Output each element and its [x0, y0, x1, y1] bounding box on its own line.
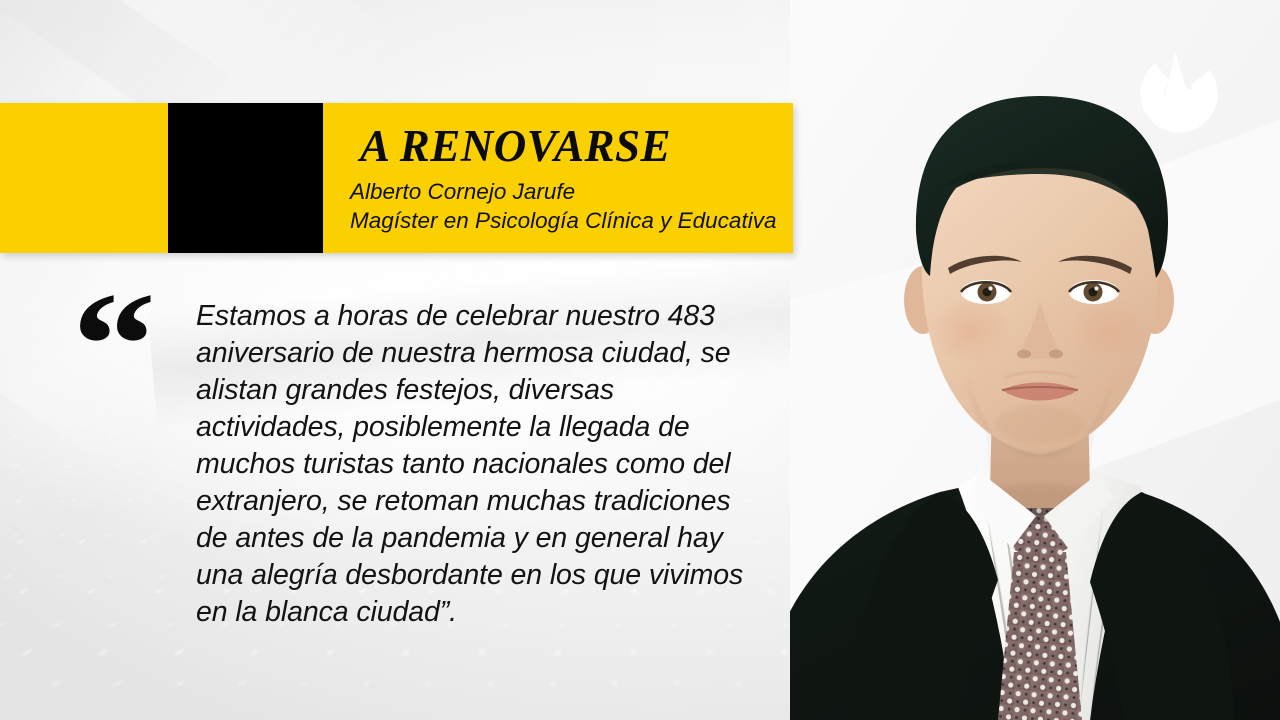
quote-card-graphic: A RENOVARSE Alberto Cornejo Jarufe Magís… [0, 0, 1280, 720]
quote-line: una alegría desbordante en los que vivim… [196, 557, 786, 594]
quote-line: extranjero, se retoman muchas tradicione… [196, 483, 786, 520]
quote-text: Estamos a horas de celebrar nuestro 483 … [196, 298, 786, 631]
header-banner: A RENOVARSE Alberto Cornejo Jarufe Magís… [0, 103, 793, 253]
quote-line: aniversario de nuestra hermosa ciudad, s… [196, 335, 786, 372]
quote-line: alistan grandes festejos, diversas [196, 372, 786, 409]
quote-line: de antes de la pandemia y en general hay [196, 520, 786, 557]
circular-arrow-logo-icon [1133, 48, 1225, 140]
headline: A RENOVARSE [360, 124, 793, 169]
quote-line: actividades, posiblemente la llegada de [196, 409, 786, 446]
quote-line: muchos turistas tanto nacionales como de… [196, 446, 786, 483]
author-title: Magíster en Psicología Clínica y Educati… [350, 207, 793, 236]
quote-line: Estamos a horas de celebrar nuestro 483 [196, 298, 786, 335]
open-quote-icon: “ [72, 270, 156, 420]
author-name: Alberto Cornejo Jarufe [350, 178, 793, 207]
banner-text-group: A RENOVARSE Alberto Cornejo Jarufe Magís… [340, 103, 793, 253]
quote-line: en la blanca ciudad”. [196, 594, 786, 631]
banner-black-block [168, 103, 323, 253]
